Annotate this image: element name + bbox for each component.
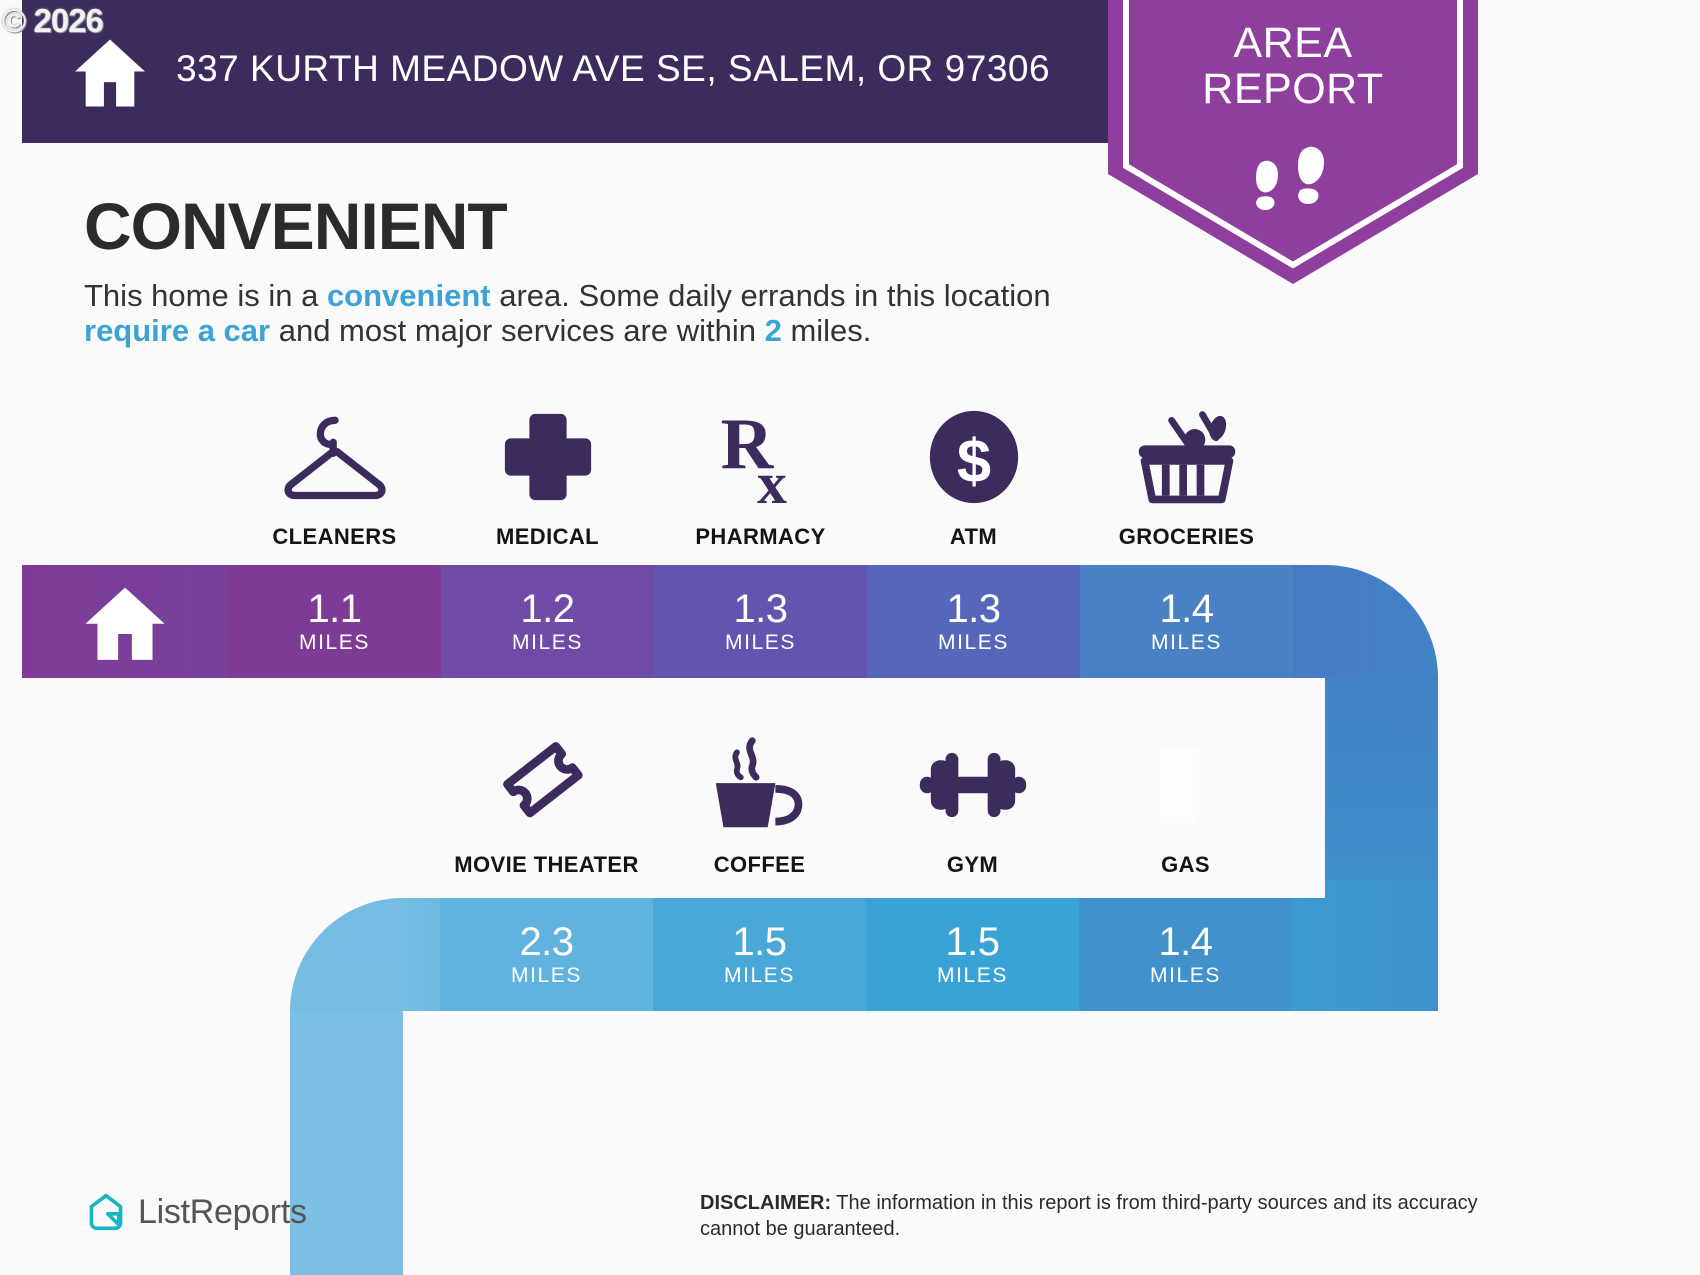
intro-highlight-require-car: require a car bbox=[84, 313, 270, 348]
distance-value: 1.4 bbox=[1158, 922, 1212, 962]
distance-value: 1.5 bbox=[945, 922, 999, 962]
dollar-circle-icon: $ bbox=[926, 402, 1022, 512]
amenity-cell-movie-theater: MOVIE THEATER bbox=[440, 730, 653, 878]
amenity-label: COFFEE bbox=[714, 852, 806, 878]
prescription-rx-icon: R x bbox=[713, 402, 809, 512]
listreports-logo-icon bbox=[86, 1192, 126, 1232]
amenity-label: GAS bbox=[1161, 852, 1210, 878]
distance-row-bottom: 2.3 MILES 1.5 MILES 1.5 MILES 1.4 MILES bbox=[440, 898, 1292, 1011]
disclaimer-label: DISCLAIMER: bbox=[700, 1192, 831, 1214]
distance-cell-cleaners: 1.1 MILES bbox=[228, 565, 441, 678]
amenity-label: GROCERIES bbox=[1119, 524, 1255, 550]
footprints-icon bbox=[1248, 144, 1340, 214]
home-icon bbox=[72, 35, 148, 111]
amenity-cell-groceries: GROCERIES bbox=[1080, 402, 1293, 550]
distance-cell-gas: 1.4 MILES bbox=[1079, 898, 1292, 1011]
distance-unit: MILES bbox=[511, 964, 582, 988]
intro-part-2: area. Some daily errands in this locatio… bbox=[491, 278, 1051, 313]
amenity-cell-coffee: COFFEE bbox=[653, 730, 866, 878]
amenity-label: ATM bbox=[950, 524, 997, 550]
home-icon bbox=[82, 579, 168, 665]
intro-part-3: and most major services are within bbox=[270, 313, 764, 348]
distance-cell-pharmacy: 1.3 MILES bbox=[654, 565, 867, 678]
distance-unit: MILES bbox=[937, 964, 1008, 988]
distance-unit: MILES bbox=[938, 631, 1009, 655]
distance-cell-medical: 1.2 MILES bbox=[441, 565, 654, 678]
amenity-cell-gas: GAS bbox=[1079, 730, 1292, 878]
amenity-icon-row-top: CLEANERS MEDICAL R x PHARMACY $ ATM bbox=[228, 402, 1293, 550]
distance-unit: MILES bbox=[1150, 964, 1221, 988]
hanger-icon bbox=[280, 402, 390, 512]
svg-text:x: x bbox=[757, 450, 787, 507]
movie-ticket-icon bbox=[499, 730, 595, 840]
intro-highlight-convenient: convenient bbox=[327, 278, 491, 313]
distance-unit: MILES bbox=[724, 964, 795, 988]
property-address: 337 KURTH MEADOW AVE SE, SALEM, OR 97306 bbox=[176, 48, 1050, 90]
amenity-icon-row-bottom: MOVIE THEATER COFFEE GYM bbox=[440, 730, 1292, 878]
distance-value: 1.3 bbox=[733, 589, 787, 629]
distance-value: 1.4 bbox=[1159, 589, 1213, 629]
distance-cell-movie-theater: 2.3 MILES bbox=[440, 898, 653, 1011]
intro-highlight-miles: 2 bbox=[765, 313, 782, 348]
distance-cell-coffee: 1.5 MILES bbox=[653, 898, 866, 1011]
distance-row-top: 1.1 MILES 1.2 MILES 1.3 MILES 1.3 MILES … bbox=[228, 565, 1293, 678]
amenity-label: GYM bbox=[947, 852, 998, 878]
disclaimer: DISCLAIMER: The information in this repo… bbox=[700, 1190, 1500, 1242]
amenity-label: PHARMACY bbox=[695, 524, 825, 550]
distance-value: 1.5 bbox=[732, 922, 786, 962]
distance-value: 1.2 bbox=[520, 589, 574, 629]
amenity-label: MOVIE THEATER bbox=[454, 852, 638, 878]
distance-value: 1.1 bbox=[307, 589, 361, 629]
page-title: CONVENIENT bbox=[84, 188, 507, 264]
intro-paragraph: This home is in a convenient area. Some … bbox=[84, 278, 1094, 348]
amenity-label: CLEANERS bbox=[272, 524, 396, 550]
amenity-cell-pharmacy: R x PHARMACY bbox=[654, 402, 867, 550]
amenity-label: MEDICAL bbox=[496, 524, 599, 550]
area-report-badge: AREA REPORT bbox=[1108, 0, 1478, 284]
distance-cell-groceries: 1.4 MILES bbox=[1080, 565, 1293, 678]
gas-pump-icon bbox=[1151, 730, 1221, 840]
distance-unit: MILES bbox=[1151, 631, 1222, 655]
listreports-logo-text: ListReports bbox=[138, 1193, 307, 1232]
distance-unit: MILES bbox=[512, 631, 583, 655]
copyright-watermark: © 2026 bbox=[2, 2, 103, 40]
intro-part-4: miles. bbox=[782, 313, 872, 348]
amenity-cell-cleaners: CLEANERS bbox=[228, 402, 441, 550]
amenity-cell-atm: $ ATM bbox=[867, 402, 1080, 550]
coffee-cup-icon bbox=[710, 730, 810, 840]
grocery-basket-icon bbox=[1133, 402, 1241, 512]
amenity-cell-medical: MEDICAL bbox=[441, 402, 654, 550]
amenity-cell-gym: GYM bbox=[866, 730, 1079, 878]
distance-value: 1.3 bbox=[946, 589, 1000, 629]
home-start-segment bbox=[22, 565, 228, 678]
distance-cell-gym: 1.5 MILES bbox=[866, 898, 1079, 1011]
dumbbell-icon bbox=[918, 730, 1028, 840]
distance-unit: MILES bbox=[299, 631, 370, 655]
distance-cell-atm: 1.3 MILES bbox=[867, 565, 1080, 678]
listreports-logo[interactable]: ListReports bbox=[86, 1192, 307, 1232]
distance-value: 2.3 bbox=[519, 922, 573, 962]
medical-cross-icon bbox=[499, 402, 597, 512]
svg-text:$: $ bbox=[956, 427, 990, 496]
intro-part-1: This home is in a bbox=[84, 278, 327, 313]
distance-unit: MILES bbox=[725, 631, 796, 655]
